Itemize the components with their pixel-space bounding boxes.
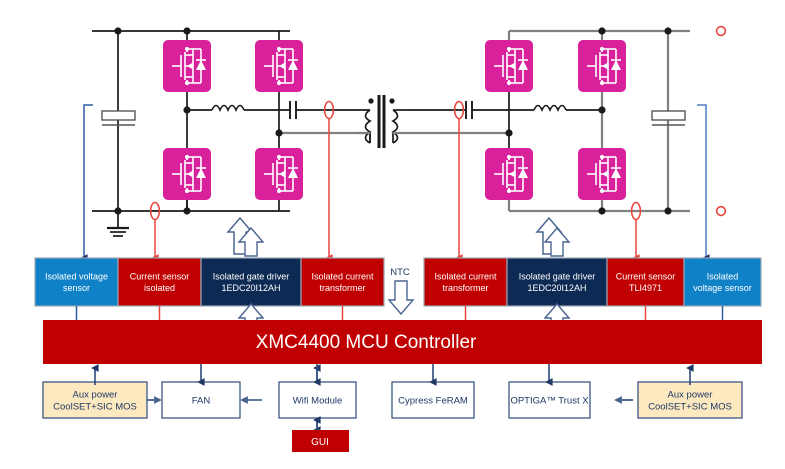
peripheral-box-cypress-feram[interactable]: Cypress FeRAM: [392, 382, 474, 418]
peripheral-box-wifi-module[interactable]: Wifi Module: [279, 382, 356, 418]
node-left-bot-a: [183, 207, 190, 214]
sensor-box-current-sensor-tli4971[interactable]: Current sensorTLI4971: [607, 258, 684, 306]
node-left-bot-cap: [114, 207, 121, 214]
system-block-diagram: Isolated voltagesensorCurrent sensorisol…: [0, 0, 785, 469]
voltage-sense-right-link: [697, 105, 706, 258]
mosfet-q5-right-high: [485, 40, 533, 92]
sensor-box-isolated-gate-driver-right[interactable]: Isolated gate driver1EDC20I12AH: [507, 258, 607, 306]
mosfet-q7-right-low: [485, 148, 533, 200]
sensor-box-current-sensor-tli4971-label: TLI4971: [629, 283, 662, 293]
node-left-mid-b: [275, 129, 282, 136]
sensor-box-isolated-current-transformer-right-label: Isolated current: [434, 271, 497, 281]
resonant-inductor-right: [534, 106, 566, 111]
mosfet-q4-left-low: [255, 148, 303, 200]
sensor-box-isolated-current-transformer-left-label: transformer: [319, 283, 365, 293]
mcu-label: XMC4400 MCU Controller: [256, 332, 477, 353]
mosfet-q2-left-high: [255, 40, 303, 92]
sensor-box-current-sensor-tli4971-label: Current sensor: [616, 271, 676, 281]
sensor-box-isolated-voltage-sensor-left[interactable]: Isolated voltagesensor: [35, 258, 118, 306]
ground-symbol: [107, 211, 129, 236]
mosfet-q8-right-low: [578, 148, 626, 200]
sense-loop-left-ac: [325, 102, 334, 259]
sensor-box-isolated-gate-driver-right-label: Isolated gate driver: [519, 271, 596, 281]
peripheral-box-fan[interactable]: FAN: [162, 382, 240, 418]
node-right-top-b: [598, 27, 605, 34]
mosfet-q1-left-high: [163, 40, 211, 92]
transformer-dot-secondary: [389, 98, 394, 103]
node-left-top-cap: [114, 27, 121, 34]
block-diagram-canvas: Isolated voltagesensorCurrent sensorisol…: [0, 0, 785, 469]
sensor-box-isolated-voltage-sensor-right[interactable]: Isolatedvoltage sensor: [684, 258, 761, 306]
sensor-box-isolated-voltage-sensor-left-label: Isolated voltage: [45, 271, 108, 281]
sensor-box-isolated-gate-driver-left[interactable]: Isolated gate driver1EDC20I12AH: [201, 258, 301, 306]
transformer-dot-primary: [368, 98, 373, 103]
ntc-group: NTC: [389, 267, 413, 314]
sensor-box-isolated-voltage-sensor-left-label: sensor: [63, 283, 90, 293]
node-left-mid-a: [183, 106, 190, 113]
node-left-top-a: [183, 27, 190, 34]
power-stage: [84, 27, 725, 258]
peripheral-box-optiga-trust-x-label: OPTIGA™ Trust X: [510, 395, 589, 406]
node-right-mid-a: [505, 129, 512, 136]
sensor-box-isolated-gate-driver-left-label: Isolated gate driver: [213, 271, 290, 281]
peripheral-box-aux-power-left-label: CoolSET+SIC MOS: [53, 401, 137, 412]
sensor-box-isolated-current-transformer-left-label: Isolated current: [311, 271, 374, 281]
isolation-transformer: [358, 95, 405, 148]
gui-label: GUI: [311, 437, 329, 448]
terminal-right-top: [717, 27, 726, 36]
node-right-top-cap: [664, 27, 671, 34]
sensor-box-current-sensor-isolated-label: isolated: [144, 283, 175, 293]
sensor-box-current-sensor-isolated[interactable]: Current sensorisolated: [118, 258, 201, 306]
peripheral-box-fan-label: FAN: [192, 395, 211, 406]
sensor-box-isolated-gate-driver-left-label: 1EDC20I12AH: [221, 283, 280, 293]
right-bridge: [405, 27, 725, 216]
peripheral-box-aux-power-left-label: Aux power: [73, 389, 118, 400]
peripheral-box-aux-power-right[interactable]: Aux powerCoolSET+SIC MOS: [638, 382, 742, 418]
node-right-bot-cap: [664, 207, 671, 214]
mosfet-q6-right-high: [578, 40, 626, 92]
gui-box[interactable]: GUI: [292, 430, 349, 452]
blocking-cap-right: [466, 101, 472, 119]
sensor-box-isolated-voltage-sensor-right-label: Isolated: [707, 271, 739, 281]
peripheral-box-optiga-trust-x[interactable]: OPTIGA™ Trust X: [509, 382, 590, 418]
sense-loop-right-ac: [455, 102, 464, 259]
peripheral-box-aux-power-left[interactable]: Aux powerCoolSET+SIC MOS: [43, 382, 147, 418]
peripheral-box-aux-power-right-label: CoolSET+SIC MOS: [648, 401, 732, 412]
mosfet-q3-left-low: [163, 148, 211, 200]
sensor-box-isolated-current-transformer-right[interactable]: Isolated currenttransformer: [424, 258, 507, 306]
sensor-box-isolated-gate-driver-right-label: 1EDC20I12AH: [527, 283, 586, 293]
ntc-label: NTC: [390, 267, 410, 278]
peripheral-box-wifi-module-label: Wifi Module: [293, 395, 343, 406]
node-right-mid-b: [598, 106, 605, 113]
voltage-sense-left-link: [84, 105, 93, 258]
sensor-box-isolated-current-transformer-right-label: transformer: [442, 283, 488, 293]
terminal-right-bottom: [717, 207, 726, 216]
resonant-inductor-left: [212, 106, 244, 111]
node-right-bot-b: [598, 207, 605, 214]
mcu-controller[interactable]: XMC4400 MCU Controller: [43, 320, 762, 364]
ntc-hollow-down-arrow: [389, 281, 413, 314]
blocking-cap-left: [290, 101, 296, 119]
peripheral-box-aux-power-right-label: Aux power: [668, 389, 713, 400]
peripheral-box-cypress-feram-label: Cypress FeRAM: [398, 395, 468, 406]
sensor-box-current-sensor-isolated-label: Current sensor: [130, 271, 190, 281]
sensor-box-isolated-current-transformer-left[interactable]: Isolated currenttransformer: [301, 258, 384, 306]
sensor-box-isolated-voltage-sensor-right-label: voltage sensor: [693, 283, 752, 293]
